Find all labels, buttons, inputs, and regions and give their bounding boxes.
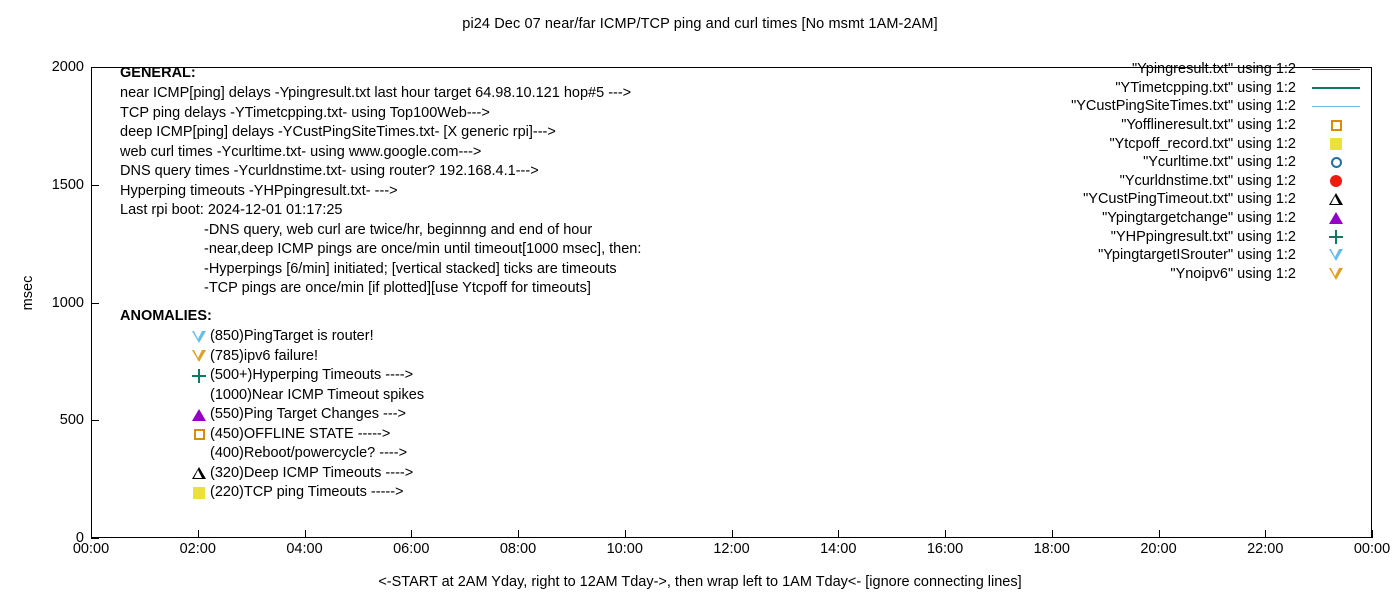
anomaly-label: (320)Deep ICMP Timeouts ----> — [210, 464, 413, 484]
anomaly-label: (850)PingTarget is router! — [210, 327, 374, 347]
general-line: Hyperping timeouts -YHPpingresult.txt- -… — [120, 182, 840, 202]
anomaly-symbol — [188, 465, 210, 481]
legend-key — [1308, 116, 1364, 135]
anomaly-symbol — [188, 446, 210, 462]
y-tick-mark — [91, 538, 99, 539]
legend-key — [1308, 265, 1364, 284]
anomaly-symbol — [188, 329, 210, 345]
y-tick-mark — [91, 67, 99, 68]
legend-key — [1308, 246, 1364, 265]
x-axis-caption: <-START at 2AM Yday, right to 12AM Tday-… — [0, 574, 1400, 590]
legend-row: "YCustPingSiteTimes.txt" using 1:2 — [956, 97, 1296, 116]
legend-label: "Ytcpoff_record.txt" using 1:2 — [1109, 136, 1296, 152]
anomaly-item: (450)OFFLINE STATE -----> — [120, 425, 580, 445]
triangle-up-open-icon — [1329, 193, 1343, 205]
triangle-up-filled-icon — [192, 409, 206, 421]
x-tick-label: 14:00 — [820, 541, 856, 557]
legend-label: "Yofflineresult.txt" using 1:2 — [1121, 117, 1296, 133]
y-tick-label: 500 — [60, 412, 84, 428]
general-note: -TCP pings are once/min [if plotted][use… — [120, 279, 840, 299]
anomaly-symbol — [188, 485, 210, 501]
general-line: web curl times -Ycurltime.txt- using www… — [120, 143, 840, 163]
legend-key — [1308, 227, 1364, 246]
legend-label: "YCustPingSiteTimes.txt" using 1:2 — [1071, 98, 1296, 114]
legend-label: "YpingtargetISrouter" using 1:2 — [1098, 247, 1296, 263]
legend-key — [1308, 172, 1364, 191]
anomalies-heading: ANOMALIES: — [120, 305, 580, 327]
x-tick-label: 02:00 — [180, 541, 216, 557]
anomaly-list: (850)PingTarget is router!(785)ipv6 fail… — [120, 327, 580, 503]
triangle-up-open-icon — [192, 467, 206, 479]
general-heading: GENERAL: — [120, 62, 840, 84]
square-open-icon — [194, 429, 205, 440]
x-tick-mark — [1265, 530, 1266, 538]
anomaly-label: (785)ipv6 failure! — [210, 347, 318, 367]
y-tick-mark — [91, 303, 99, 304]
legend-row: "Ypingtargetchange" using 1:2 — [956, 209, 1296, 228]
legend-key — [1308, 153, 1364, 172]
anomaly-item: (400)Reboot/powercycle? ----> — [120, 444, 580, 464]
anomaly-label: (550)Ping Target Changes ---> — [210, 405, 406, 425]
x-tick-mark — [1372, 530, 1373, 538]
triangle-down-blue-icon — [192, 331, 206, 343]
anomaly-label: (500+)Hyperping Timeouts ----> — [210, 366, 413, 386]
anomalies-annotation-block: ANOMALIES: (850)PingTarget is router!(78… — [120, 305, 580, 503]
x-tick-label: 00:00 — [1354, 541, 1390, 557]
y-tick-label: 1000 — [52, 295, 84, 311]
triangle-down-orange-icon — [192, 350, 206, 362]
circle-open-icon — [1331, 157, 1342, 168]
anomaly-symbol — [188, 426, 210, 442]
anomaly-item: (1000)Near ICMP Timeout spikes — [120, 386, 580, 406]
legend-label: "YHPpingresult.txt" using 1:2 — [1111, 229, 1296, 245]
legend: "Ypingresult.txt" using 1:2"YTimetcpping… — [956, 60, 1296, 283]
line-teal-icon — [1312, 87, 1360, 89]
legend-key — [1308, 97, 1364, 116]
plus-icon — [1329, 230, 1343, 244]
y-axis-labels: 0500100015002000 — [0, 67, 84, 538]
square-filled-icon — [193, 487, 205, 499]
x-tick-mark — [518, 530, 519, 538]
anomaly-symbol — [188, 407, 210, 423]
legend-label: "Ycurltime.txt" using 1:2 — [1143, 154, 1296, 170]
x-tick-label: 00:00 — [73, 541, 109, 557]
legend-key — [1308, 190, 1364, 209]
y-tick-label: 2000 — [52, 59, 84, 75]
x-tick-label: 22:00 — [1247, 541, 1283, 557]
x-tick-label: 20:00 — [1140, 541, 1176, 557]
x-tick-mark — [91, 530, 92, 538]
line-purple-icon — [1312, 69, 1360, 71]
legend-label: "YTimetcpping.txt" using 1:2 — [1115, 80, 1296, 96]
x-tick-label: 04:00 — [286, 541, 322, 557]
legend-row: "YCustPingTimeout.txt" using 1:2 — [956, 190, 1296, 209]
line-lightblue-icon — [1312, 106, 1360, 108]
triangle-down-orange-icon — [1329, 268, 1343, 280]
x-tick-mark — [732, 530, 733, 538]
legend-label: "YCustPingTimeout.txt" using 1:2 — [1083, 191, 1296, 207]
x-tick-mark — [305, 530, 306, 538]
x-tick-mark — [625, 530, 626, 538]
anomaly-symbol — [188, 387, 210, 403]
anomaly-label: (220)TCP ping Timeouts -----> — [210, 483, 404, 503]
legend-row: "YpingtargetISrouter" using 1:2 — [956, 246, 1296, 265]
square-filled-icon — [1330, 138, 1342, 150]
anomaly-label: (1000)Near ICMP Timeout spikes — [210, 386, 424, 406]
legend-row: "YTimetcpping.txt" using 1:2 — [956, 79, 1296, 98]
general-note: -Hyperpings [6/min] initiated; [vertical… — [120, 260, 840, 280]
legend-row: "YHPpingresult.txt" using 1:2 — [956, 227, 1296, 246]
anomaly-item: (220)TCP ping Timeouts -----> — [120, 483, 580, 503]
anomaly-item: (785)ipv6 failure! — [120, 347, 580, 367]
square-open-icon — [1331, 120, 1342, 131]
general-line: Last rpi boot: 2024-12-01 01:17:25 — [120, 201, 840, 221]
circle-filled-icon — [1330, 175, 1342, 187]
anomaly-symbol — [188, 348, 210, 364]
chart-root: pi24 Dec 07 near/far ICMP/TCP ping and c… — [0, 0, 1400, 600]
x-tick-label: 16:00 — [927, 541, 963, 557]
anomaly-item: (850)PingTarget is router! — [120, 327, 580, 347]
anomaly-item: (550)Ping Target Changes ---> — [120, 405, 580, 425]
y-tick-label: 1500 — [52, 177, 84, 193]
x-axis-labels: 00:0002:0004:0006:0008:0010:0012:0014:00… — [91, 541, 1372, 561]
x-tick-label: 10:00 — [607, 541, 643, 557]
legend-row: "Ycurltime.txt" using 1:2 — [956, 153, 1296, 172]
y-tick-mark — [91, 185, 99, 186]
x-tick-mark — [1159, 530, 1160, 538]
x-tick-label: 12:00 — [713, 541, 749, 557]
x-tick-mark — [838, 530, 839, 538]
general-note: -near,deep ICMP pings are once/min until… — [120, 240, 840, 260]
legend-row: "Ypingresult.txt" using 1:2 — [956, 60, 1296, 79]
anomaly-label: (400)Reboot/powercycle? ----> — [210, 444, 407, 464]
x-tick-mark — [411, 530, 412, 538]
x-tick-mark — [198, 530, 199, 538]
general-annotation-block: GENERAL: near ICMP[ping] delays -Ypingre… — [120, 62, 840, 299]
legend-label: "Ypingresult.txt" using 1:2 — [1132, 61, 1296, 77]
general-line: near ICMP[ping] delays -Ypingresult.txt … — [120, 84, 840, 104]
legend-label: "Ynoipv6" using 1:2 — [1170, 266, 1296, 282]
x-tick-mark — [945, 530, 946, 538]
anomaly-item: (500+)Hyperping Timeouts ----> — [120, 366, 580, 386]
general-line: TCP ping delays -YTimetcpping.txt- using… — [120, 104, 840, 124]
anomaly-item: (320)Deep ICMP Timeouts ----> — [120, 464, 580, 484]
general-lines: near ICMP[ping] delays -Ypingresult.txt … — [120, 84, 840, 221]
x-tick-label: 06:00 — [393, 541, 429, 557]
general-line: deep ICMP[ping] delays -YCustPingSiteTim… — [120, 123, 840, 143]
anomaly-symbol — [188, 368, 210, 384]
triangle-down-blue-icon — [1329, 249, 1343, 261]
legend-label: "Ycurldnstime.txt" using 1:2 — [1120, 173, 1296, 189]
anomaly-label: (450)OFFLINE STATE -----> — [210, 425, 390, 445]
legend-row: "Yofflineresult.txt" using 1:2 — [956, 116, 1296, 135]
x-tick-mark — [1052, 530, 1053, 538]
x-tick-label: 08:00 — [500, 541, 536, 557]
legend-key — [1308, 79, 1364, 98]
general-note: -DNS query, web curl are twice/hr, begin… — [120, 221, 840, 241]
legend-row: "Ytcpoff_record.txt" using 1:2 — [956, 134, 1296, 153]
general-notes: -DNS query, web curl are twice/hr, begin… — [120, 221, 840, 299]
legend-row: "Ycurldnstime.txt" using 1:2 — [956, 172, 1296, 191]
legend-key — [1308, 134, 1364, 153]
legend-key — [1308, 60, 1364, 79]
plus-icon — [192, 369, 206, 383]
chart-title: pi24 Dec 07 near/far ICMP/TCP ping and c… — [0, 16, 1400, 32]
legend-row: "Ynoipv6" using 1:2 — [956, 265, 1296, 284]
x-tick-label: 18:00 — [1034, 541, 1070, 557]
general-line: DNS query times -Ycurldnstime.txt- using… — [120, 162, 840, 182]
legend-key — [1308, 209, 1364, 228]
y-tick-mark — [91, 420, 99, 421]
triangle-up-filled-icon — [1329, 212, 1343, 224]
legend-label: "Ypingtargetchange" using 1:2 — [1102, 210, 1296, 226]
